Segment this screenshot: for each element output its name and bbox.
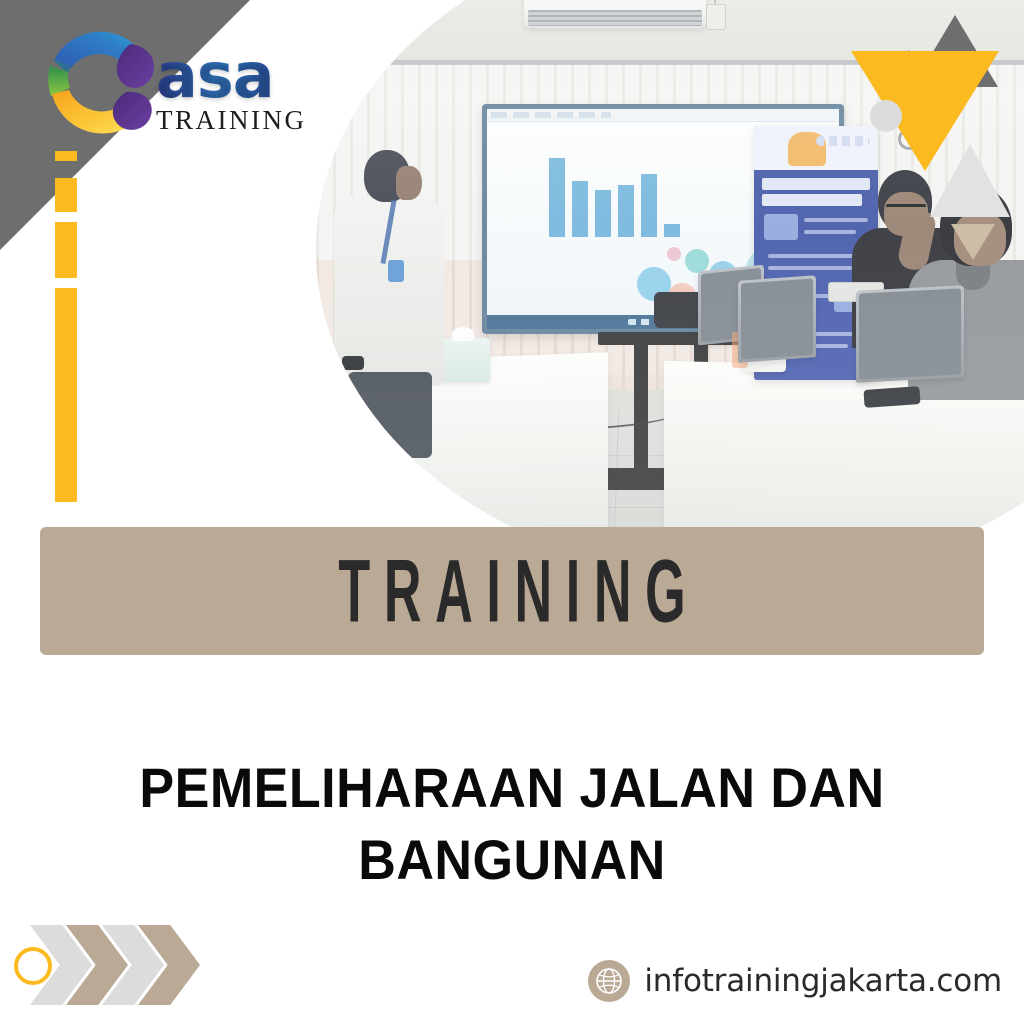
accent-bar-2 <box>55 178 77 212</box>
circle-outline-icon <box>14 947 52 985</box>
accent-bar-1 <box>55 151 77 161</box>
page-title-line-1: PEMELIHARAAN JALAN DAN <box>92 752 933 824</box>
page-title: PEMELIHARAAN JALAN DAN BANGUNAN <box>92 752 933 895</box>
training-banner-label: TRAINING <box>325 540 699 643</box>
circle-gray-icon <box>870 100 902 132</box>
logo-subtitle: TRAINING <box>156 105 306 136</box>
globe-icon <box>588 960 630 1002</box>
page-title-line-2: BANGUNAN <box>92 824 933 896</box>
website-url: infotrainingjakarta.com <box>644 963 1002 999</box>
accent-bar-3 <box>55 222 77 278</box>
logo-wordmark: asa TRAINING <box>156 48 306 136</box>
footer-website[interactable]: infotrainingjakarta.com <box>588 960 1002 1002</box>
logo-name: asa <box>156 48 306 104</box>
brand-logo: asa TRAINING <box>34 18 334 158</box>
poster-canvas: asa TRAINING TRAINING PEMELIHARAAN JALAN… <box>0 0 1024 1024</box>
training-banner: TRAINING <box>40 527 984 655</box>
circular-gradient-c-icon <box>34 18 166 150</box>
chevron-decoration <box>30 925 210 1005</box>
accent-bar-4 <box>55 288 77 502</box>
